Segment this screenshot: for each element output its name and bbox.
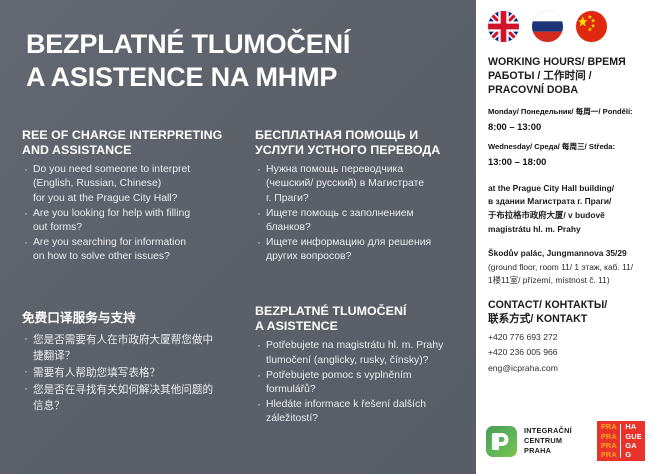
contact-details: +420 776 693 272 +420 236 005 966 eng@ic…: [488, 330, 662, 376]
location-line-3: 于布拉格市政府大厦/ v budově: [488, 209, 662, 223]
section-russian-bullets: Нужна помощь переводчика (чешский/ русск…: [255, 163, 472, 264]
list-item: Are you searching for information on how…: [22, 236, 239, 264]
icp-logo: INTEGRAČNÍ CENTRUM PRAHA: [486, 426, 572, 457]
list-item: Potřebujete na magistrátu hl. m. Prahy t…: [255, 339, 472, 367]
contact-title-line-1: CONTACT/ КОНТАКТЫ/: [488, 299, 662, 313]
section-russian-title-line-2: УСЛУГИ УСТНОГО ПЕРЕВОДА: [255, 143, 472, 158]
prague-logo-left-column: PRA PRA PRA PRA: [597, 424, 622, 458]
address-detail: (ground floor, room 11/ 1 этаж, каб. 11/…: [488, 261, 662, 288]
list-item: 您是否需要有人在市政府大厦帮您做中 捷翻译？: [22, 332, 239, 364]
prague-left-1: PRA: [601, 422, 621, 431]
section-chinese-bullets: 您是否需要有人在市政府大厦帮您做中 捷翻译？ 需要有人帮助您填写表格？ 您是否在…: [22, 332, 239, 414]
section-czech-bullets: Potřebujete na magistrátu hl. m. Prahy t…: [255, 339, 472, 426]
headline-line-1: BEZPLATNÉ TLUMOČENÍ: [26, 28, 456, 61]
wednesday-hours: 13:00 – 18:00: [488, 154, 662, 171]
working-hours-title-line-2: РАБОТЫ / 工作时间 /: [488, 70, 662, 84]
flag-uk-icon: [488, 11, 519, 42]
list-item: Do you need someone to interpret (Englis…: [22, 163, 239, 205]
prague-right-1: HA: [625, 422, 645, 431]
prague-left-4: PRA: [601, 450, 621, 459]
section-czech-title: BEZPLATNÉ TLUMOČENÍ A ASISTENCE: [255, 304, 472, 334]
section-czech-title-line-1: BEZPLATNÉ TLUMOČENÍ: [255, 304, 472, 319]
wednesday-label: Wednesday/ Среда/ 每周三/ Středa:: [488, 142, 615, 151]
flag-row: [484, 11, 662, 42]
gray-content-panel: BEZPLATNÉ TLUMOČENÍ A ASISTENCE NA MHMP …: [0, 0, 476, 474]
info-sidebar: WORKING HOURS/ ВРЕМЯ РАБОТЫ / 工作时间 / PRA…: [476, 0, 670, 474]
list-item: Ищете информацию для решения других вопр…: [255, 236, 472, 264]
prague-logo: PRA PRA PRA PRA HA GUE GA G: [597, 421, 645, 461]
working-hours-title: WORKING HOURS/ ВРЕМЯ РАБОТЫ / 工作时间 / PRA…: [488, 56, 662, 98]
section-english-title-line-1: REE OF CHARGE INTERPRETING: [22, 128, 239, 143]
contact-phone-1[interactable]: +420 776 693 272: [488, 330, 662, 345]
page-title: BEZPLATNÉ TLUMOČENÍ A ASISTENCE NA MHMP: [26, 28, 456, 94]
icp-text-line-3: PRAHA: [524, 446, 572, 456]
section-english-title-line-2: AND ASSISTANCE: [22, 143, 239, 158]
monday-label: Monday/ Понедельник/ 每周一/ Pondělí:: [488, 107, 633, 116]
working-hours-title-line-3: PRACOVNÍ DOBA: [488, 84, 662, 98]
address-block: Škodův palác, Jungmannova 35/29 (ground …: [484, 247, 662, 288]
contact-email[interactable]: eng@icpraha.com: [488, 361, 662, 376]
contact-phone-2[interactable]: +420 236 005 966: [488, 345, 662, 360]
column-middle: БЕСПЛАТНАЯ ПОМОЩЬ И УСЛУГИ УСТНОГО ПЕРЕВ…: [255, 128, 472, 440]
location-line-1: at the Prague City Hall building/: [488, 182, 662, 196]
address-title: Škodův palác, Jungmannova 35/29: [488, 247, 662, 261]
list-item: Hledáte informace k řešení dalších zálež…: [255, 398, 472, 426]
contact-block: CONTACT/ КОНТАКТЫ/ 联系方式/ KONTAKT +420 77…: [484, 299, 662, 376]
monday-hours: 8:00 – 13:00: [488, 119, 662, 136]
section-english-title: REE OF CHARGE INTERPRETING AND ASSISTANC…: [22, 128, 239, 158]
section-chinese-title: 免费口译服务与支持: [22, 311, 239, 326]
logo-row: INTEGRAČNÍ CENTRUM PRAHA PRA PRA PRA PRA…: [486, 421, 645, 461]
icp-logo-text: INTEGRAČNÍ CENTRUM PRAHA: [524, 426, 572, 456]
section-czech-title-line-2: A ASISTENCE: [255, 319, 472, 334]
list-item: Are you looking for help with filling ou…: [22, 207, 239, 235]
contact-title: CONTACT/ КОНТАКТЫ/ 联系方式/ KONTAKT: [488, 299, 662, 327]
prague-logo-right-column: HA GUE GA G: [621, 424, 645, 458]
section-russian-title: БЕСПЛАТНАЯ ПОМОЩЬ И УСЛУГИ УСТНОГО ПЕРЕВ…: [255, 128, 472, 158]
prague-right-2: GUE: [625, 432, 645, 441]
list-item: 您是否在寻找有关如何解决其他问题的 信息？: [22, 382, 239, 414]
poster-root: BEZPLATNÉ TLUMOČENÍ A ASISTENCE NA MHMP …: [0, 0, 670, 474]
prague-left-3: PRA: [601, 441, 621, 450]
working-hours-block: WORKING HOURS/ ВРЕМЯ РАБОТЫ / 工作时间 / PRA…: [484, 56, 662, 171]
flag-russia-icon: [532, 11, 563, 42]
section-czech: BEZPLATNÉ TLUMOČENÍ A ASISTENCE Potřebuj…: [255, 304, 472, 426]
working-hours-title-line-1: WORKING HOURS/ ВРЕМЯ: [488, 56, 662, 70]
column-left: REE OF CHARGE INTERPRETING AND ASSISTANC…: [22, 128, 239, 440]
list-item: Ищете помощь с заполнением бланков?: [255, 207, 472, 235]
location-block: at the Prague City Hall building/ в здан…: [484, 182, 662, 236]
language-columns: REE OF CHARGE INTERPRETING AND ASSISTANC…: [22, 128, 472, 440]
section-english-bullets: Do you need someone to interpret (Englis…: [22, 163, 239, 264]
address-line-1: (ground floor, room 11/ 1 этаж, каб. 11/: [488, 261, 662, 275]
section-chinese-title-line-1: 免费口译服务与支持: [22, 311, 239, 326]
list-item: 需要有人帮助您填写表格？: [22, 365, 239, 381]
section-russian-title-line-1: БЕСПЛАТНАЯ ПОМОЩЬ И: [255, 128, 472, 143]
contact-title-line-2: 联系方式/ KONTAKT: [488, 313, 662, 327]
flag-china-icon: [576, 11, 607, 42]
address-line-2: 1楼11室/ přízemí, místnost č. 11): [488, 274, 662, 288]
location-text: at the Prague City Hall building/ в здан…: [488, 182, 662, 236]
icp-mark-icon: [486, 426, 517, 457]
list-item: Нужна помощь переводчика (чешский/ русск…: [255, 163, 472, 205]
prague-right-3: GA: [625, 441, 645, 450]
section-chinese: 免费口译服务与支持 您是否需要有人在市政府大厦帮您做中 捷翻译？ 需要有人帮助您…: [22, 311, 239, 414]
list-item: Potřebujete pomoc s vyplněním formulářů?: [255, 369, 472, 397]
prague-left-2: PRA: [601, 432, 621, 441]
headline-line-2: A ASISTENCE NA MHMP: [26, 61, 456, 94]
location-line-4: magistrátu hl. m. Prahy: [488, 223, 662, 237]
section-english: REE OF CHARGE INTERPRETING AND ASSISTANC…: [22, 128, 239, 264]
prague-right-4: G: [625, 450, 645, 459]
icp-text-line-1: INTEGRAČNÍ: [524, 426, 572, 436]
icp-text-line-2: CENTRUM: [524, 436, 572, 446]
location-line-2: в здании Магистрата г. Праги/: [488, 195, 662, 209]
section-russian: БЕСПЛАТНАЯ ПОМОЩЬ И УСЛУГИ УСТНОГО ПЕРЕВ…: [255, 128, 472, 264]
